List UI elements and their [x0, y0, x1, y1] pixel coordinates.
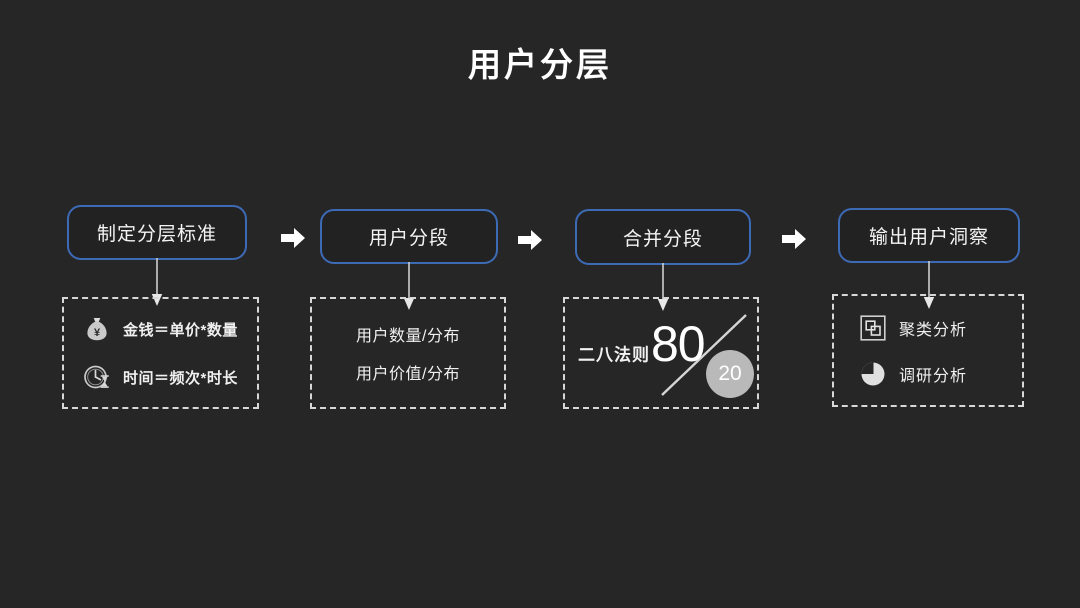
stage-box-1[interactable]: 制定分层标准 [67, 205, 247, 260]
stage-box-3[interactable]: 合并分段 [575, 209, 751, 265]
list-item: 聚类分析 [858, 313, 1022, 343]
detail-panel-3: 二八法则 80 20 [563, 297, 759, 409]
detail-rows-4: 聚类分析 调研分析 [834, 296, 1022, 405]
list-item: ¥ 金钱＝单价*数量 [82, 314, 257, 344]
detail-panel-2: 用户数量/分布 用户价值/分布 [310, 297, 506, 409]
svg-text:¥: ¥ [94, 327, 101, 339]
clock-hourglass-icon [82, 362, 112, 392]
detail-panel-1: ¥ 金钱＝单价*数量 [62, 297, 259, 409]
detail-rows-2: 用户数量/分布 用户价值/分布 [312, 299, 504, 407]
pareto-principle-graphic: 二八法则 80 20 [565, 299, 757, 407]
pareto-ratio-graphic: 80 20 [650, 307, 758, 403]
list-item-label: 聚类分析 [899, 316, 967, 340]
stage-box-2[interactable]: 用户分段 [320, 209, 498, 264]
pareto-minor-number: 20 [718, 362, 741, 386]
list-item-label: 用户价值/分布 [356, 360, 460, 384]
stage-box-4[interactable]: 输出用户洞察 [838, 208, 1020, 263]
pareto-minor-circle: 20 [706, 350, 754, 398]
detail-panel-4: 聚类分析 调研分析 [832, 294, 1024, 407]
pie-chart-icon [858, 359, 888, 389]
process-flow-diagram: 制定分层标准 ¥ 金钱＝单价*数量 [0, 0, 1080, 608]
stage-label-4: 输出用户洞察 [869, 222, 989, 249]
list-item-label: 时间＝频次*时长 [123, 367, 238, 388]
list-item-label: 用户数量/分布 [356, 322, 460, 346]
stage-label-2: 用户分段 [369, 223, 449, 250]
right-arrow-icon-3 [781, 227, 807, 251]
list-item: 调研分析 [858, 359, 1022, 389]
list-item: 时间＝频次*时长 [82, 362, 257, 392]
list-item-label: 调研分析 [899, 362, 967, 386]
right-arrow-icon-1 [280, 226, 306, 250]
money-bag-icon: ¥ [82, 314, 112, 344]
pareto-major-number: 80 [651, 319, 705, 369]
right-arrow-icon-2 [517, 228, 543, 252]
list-item-label: 金钱＝单价*数量 [123, 319, 238, 340]
cluster-squares-icon [858, 313, 888, 343]
stage-label-3: 合并分段 [623, 224, 703, 251]
pareto-label: 二八法则 [578, 341, 650, 366]
detail-rows-1: ¥ 金钱＝单价*数量 [64, 299, 257, 407]
stage-label-1: 制定分层标准 [97, 219, 217, 246]
